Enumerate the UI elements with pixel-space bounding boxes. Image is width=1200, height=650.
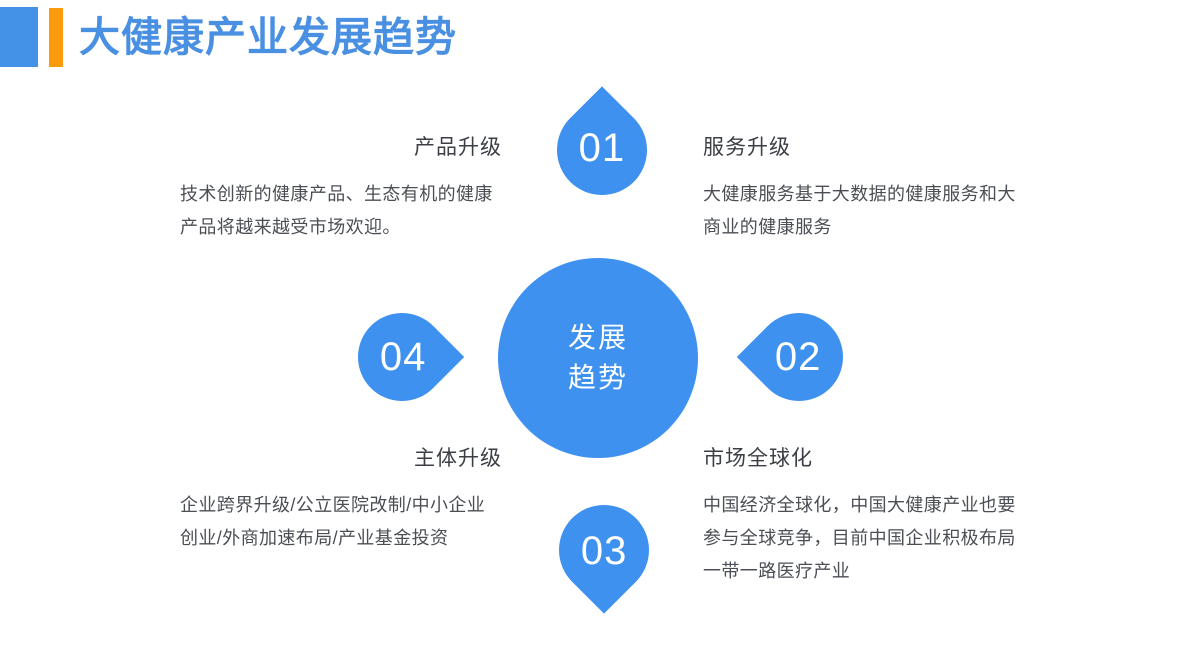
title-orange-bar-decoration: [49, 8, 63, 67]
content-block-top-left-body: 技术创新的健康产品、生态有机的健康产品将越来越受市场欢迎。: [180, 178, 502, 244]
content-block-bottom-left: 主体升级 企业跨界升级/公立医院改制/中小企业创业/外商加速布局/产业基金投资: [180, 446, 502, 555]
marker-pin-02-label: 02: [775, 337, 824, 377]
content-block-bottom-right-body: 中国经济全球化，中国大健康产业也要参与全球竞争，目前中国企业积极布局一带一路医疗…: [703, 489, 1033, 587]
content-block-top-right-body: 大健康服务基于大数据的健康服务和大商业的健康服务: [703, 178, 1033, 244]
marker-pin-04[interactable]: 04: [340, 295, 464, 419]
content-block-bottom-right: 市场全球化 中国经济全球化，中国大健康产业也要参与全球竞争，目前中国企业积极布局…: [703, 446, 1033, 587]
slide-canvas: 大健康产业发展趋势 发展 趋势 01 02 03 04 产品升级 技术创新的健康…: [0, 0, 1200, 650]
marker-pin-01-label: 01: [579, 128, 626, 172]
marker-pin-04-label: 04: [378, 337, 427, 377]
content-block-bottom-left-heading: 主体升级: [180, 446, 502, 471]
hub-label-line-2: 趋势: [568, 358, 628, 398]
marker-pin-03[interactable]: 03: [540, 486, 667, 613]
content-block-top-left: 产品升级 技术创新的健康产品、生态有机的健康产品将越来越受市场欢迎。: [180, 135, 502, 244]
center-hub-circle: 发展 趋势: [498, 258, 698, 458]
page-title: 大健康产业发展趋势: [79, 17, 457, 58]
content-block-bottom-left-body: 企业跨界升级/公立医院改制/中小企业创业/外商加速布局/产业基金投资: [180, 489, 502, 555]
title-square-decoration: [0, 7, 38, 67]
content-block-bottom-right-heading: 市场全球化: [703, 446, 1033, 471]
marker-pin-01[interactable]: 01: [538, 86, 665, 213]
marker-pin-02[interactable]: 02: [737, 295, 861, 419]
marker-pin-03-label: 03: [581, 529, 628, 571]
content-block-top-left-heading: 产品升级: [180, 135, 502, 160]
content-block-top-right-heading: 服务升级: [703, 135, 1033, 160]
slide-title-row: 大健康产业发展趋势: [0, 7, 457, 67]
content-block-top-right: 服务升级 大健康服务基于大数据的健康服务和大商业的健康服务: [703, 135, 1033, 244]
hub-label-line-1: 发展: [568, 318, 628, 358]
